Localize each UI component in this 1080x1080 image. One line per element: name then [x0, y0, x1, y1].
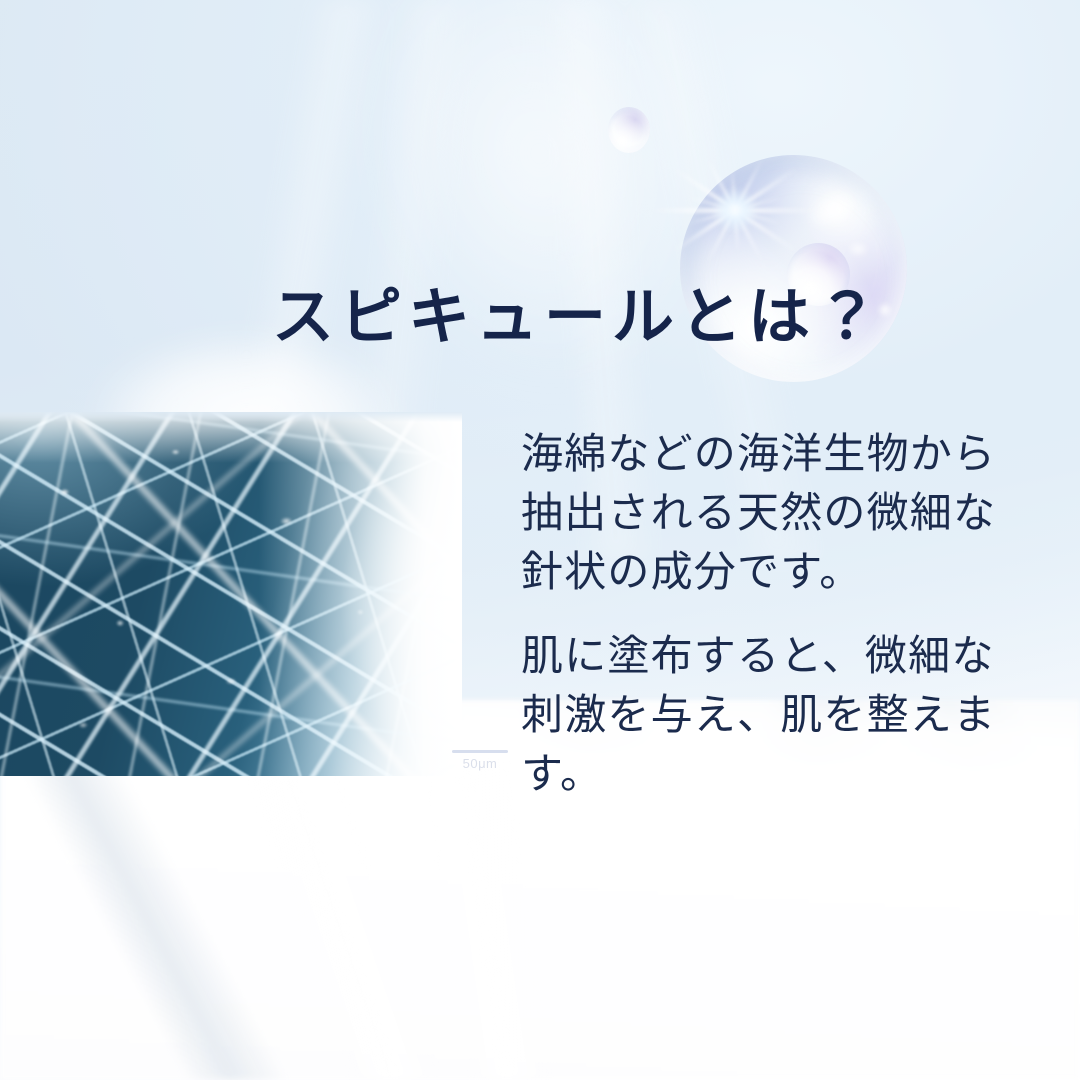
- spicule-needles-layer-2: [0, 412, 462, 776]
- micrograph-edge-fade: [0, 412, 462, 776]
- micrograph-top-edge: [0, 412, 462, 422]
- body-paragraph-1: 海綿などの海洋生物から抽出される天然の微細な針状の成分です。: [521, 425, 1021, 601]
- body-copy: 海綿などの海洋生物から抽出される天然の微細な針状の成分です。 肌に塗布すると、微…: [521, 425, 1021, 804]
- spicule-micrograph-image: [0, 412, 462, 776]
- spicule-highlight-specks: [0, 412, 462, 776]
- spicule-needles-layer-1: [0, 412, 462, 776]
- spicule-needles-layer-3: [0, 412, 462, 776]
- body-paragraph-2: 肌に塗布すると、微細な刺激を与え、肌を整えます。: [521, 627, 1021, 803]
- droplet-highlight-mid: [845, 240, 871, 258]
- small-water-droplet-icon: [608, 107, 650, 153]
- poster-canvas: 50μm スピキュールとは？ 海綿などの海洋生物から抽出される天然の微細な針状の…: [0, 0, 1080, 1080]
- page-title: スピキュールとは？: [272, 286, 892, 351]
